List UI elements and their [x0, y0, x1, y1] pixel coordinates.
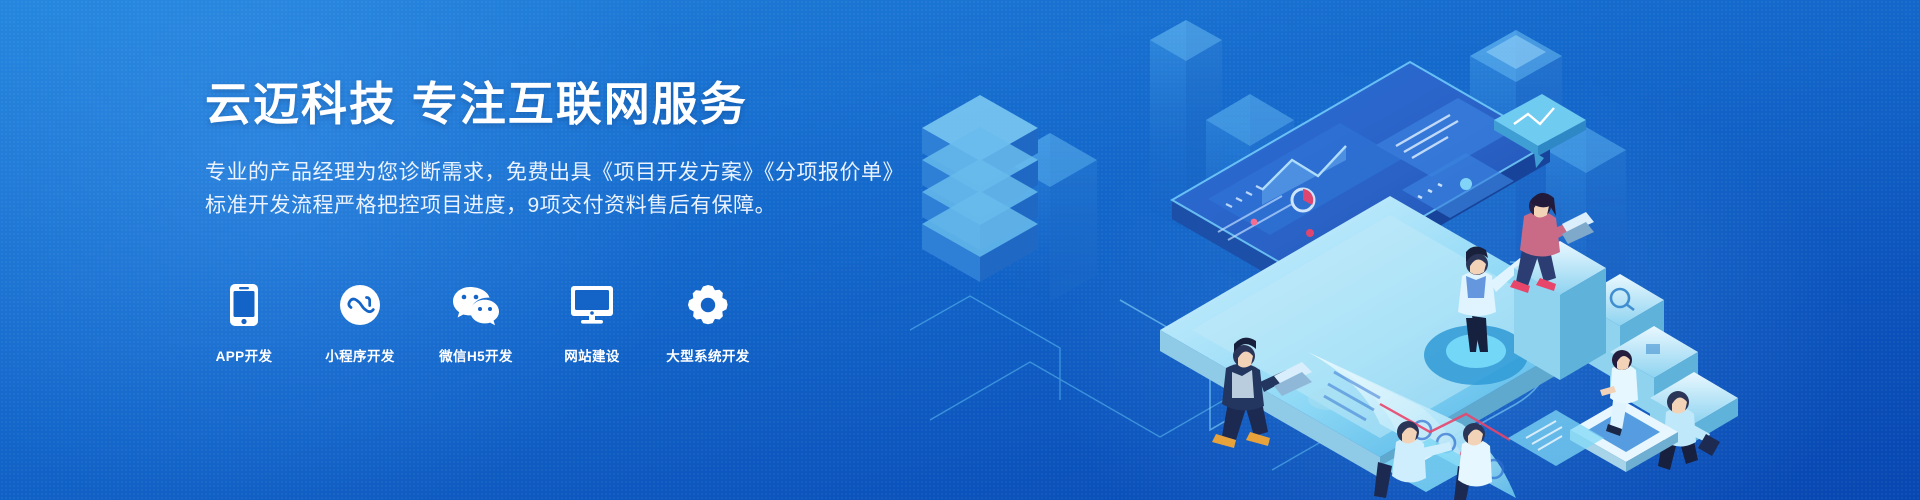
service-label: 小程序开发 — [325, 345, 395, 365]
banner-subtitle: 专业的产品经理为您诊断需求，免费出具《项目开发方案》《分项报价单》 标准开发流程… — [205, 156, 925, 222]
service-label: 大型系统开发 — [666, 345, 749, 365]
service-item-mini-program[interactable]: 小程序开发 — [314, 282, 406, 365]
service-label: 网站建设 — [564, 345, 620, 365]
banner-copy: 云迈科技 专注互联网服务 专业的产品经理为您诊断需求，免费出具《项目开发方案》《… — [205, 74, 925, 222]
mobile-phone-icon — [229, 282, 259, 328]
service-item-website[interactable]: 网站建设 — [546, 282, 638, 365]
gear-icon — [687, 282, 729, 328]
service-item-wechat-h5[interactable]: 微信H5开发 — [430, 282, 522, 365]
hero-banner: 云迈科技 专注互联网服务 专业的产品经理为您诊断需求，免费出具《项目开发方案》《… — [0, 0, 1920, 500]
mini-program-icon — [339, 282, 381, 328]
isometric-illustration — [910, 0, 1920, 500]
subtitle-line-2: 标准开发流程严格把控项目进度，9项交付资料售后有保障。 — [205, 189, 925, 222]
service-list: APP开发 小程序开发 — [198, 282, 754, 365]
service-item-large-system[interactable]: 大型系统开发 — [662, 282, 754, 365]
page-title: 云迈科技 专注互联网服务 — [205, 74, 925, 134]
service-label: APP开发 — [216, 345, 273, 365]
monitor-icon — [570, 282, 614, 328]
service-label: 微信H5开发 — [439, 345, 513, 365]
subtitle-line-1: 专业的产品经理为您诊断需求，免费出具《项目开发方案》《分项报价单》 — [205, 156, 925, 189]
wechat-icon — [452, 282, 500, 328]
service-item-app[interactable]: APP开发 — [198, 282, 290, 365]
